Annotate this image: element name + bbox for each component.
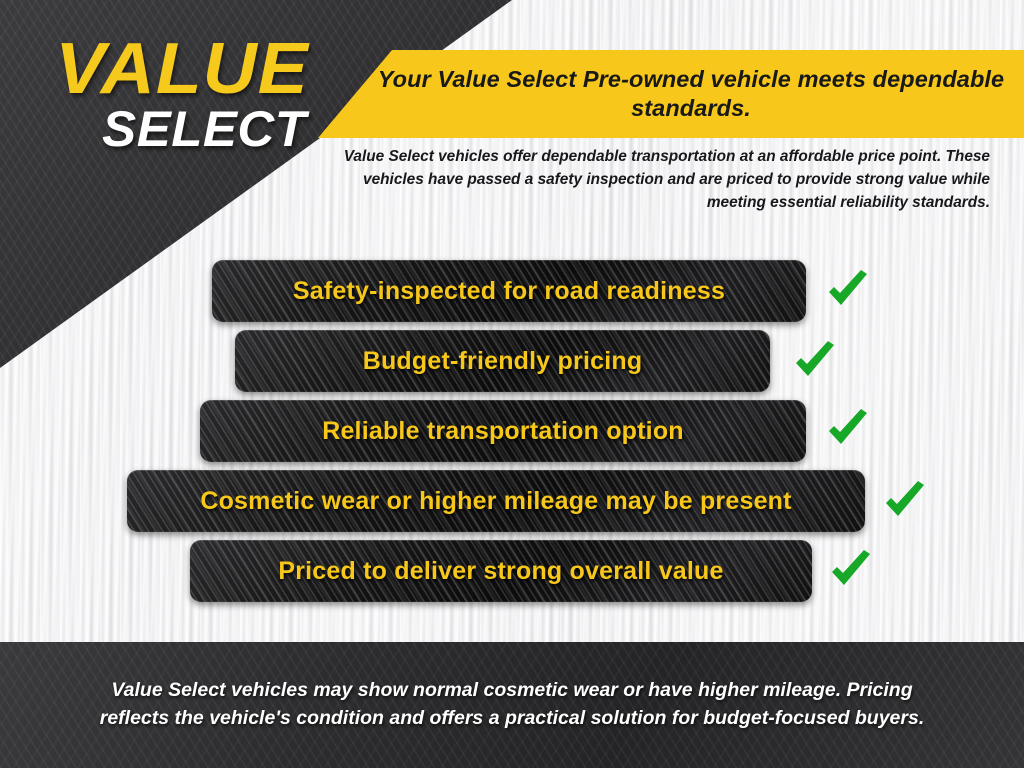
feature-label: Cosmetic wear or higher mileage may be p… <box>182 487 809 516</box>
feature-label: Reliable transportation option <box>304 417 702 446</box>
feature-row: Safety-inspected for road readiness <box>0 260 1024 330</box>
logo-word-select: SELECT <box>19 104 345 154</box>
footer-band: Value Select vehicles may show normal co… <box>0 642 1024 768</box>
feature-bar: Safety-inspected for road readiness <box>212 260 806 322</box>
feature-row: Reliable transportation option <box>0 400 1024 470</box>
feature-bar: Priced to deliver strong overall value <box>190 540 812 602</box>
feature-bar: Cosmetic wear or higher mileage may be p… <box>127 470 865 532</box>
value-select-logo: VALUE SELECT <box>22 36 342 154</box>
headline-banner: Your Value Select Pre-owned vehicle meet… <box>318 50 1024 138</box>
feature-label: Safety-inspected for road readiness <box>275 277 743 306</box>
feature-label: Priced to deliver strong overall value <box>260 557 741 586</box>
green-check-icon <box>825 545 877 597</box>
body-paragraph: Value Select vehicles offer dependable t… <box>330 146 990 214</box>
feature-bar: Reliable transportation option <box>200 400 806 462</box>
feature-list: Safety-inspected for road readiness Budg… <box>0 260 1024 610</box>
logo-word-value: VALUE <box>16 36 349 102</box>
footer-disclaimer: Value Select vehicles may show normal co… <box>97 677 927 732</box>
feature-row: Priced to deliver strong overall value <box>0 540 1024 610</box>
feature-label: Budget-friendly pricing <box>345 347 661 376</box>
headline-text: Your Value Select Pre-owned vehicle meet… <box>371 65 1011 124</box>
value-select-poster: VALUE SELECT Your Value Select Pre-owned… <box>0 0 1024 768</box>
feature-row: Budget-friendly pricing <box>0 330 1024 400</box>
green-check-icon <box>789 336 841 388</box>
feature-row: Cosmetic wear or higher mileage may be p… <box>0 470 1024 540</box>
feature-bar: Budget-friendly pricing <box>235 330 770 392</box>
green-check-icon <box>879 476 931 528</box>
green-check-icon <box>822 404 874 456</box>
green-check-icon <box>822 265 874 317</box>
